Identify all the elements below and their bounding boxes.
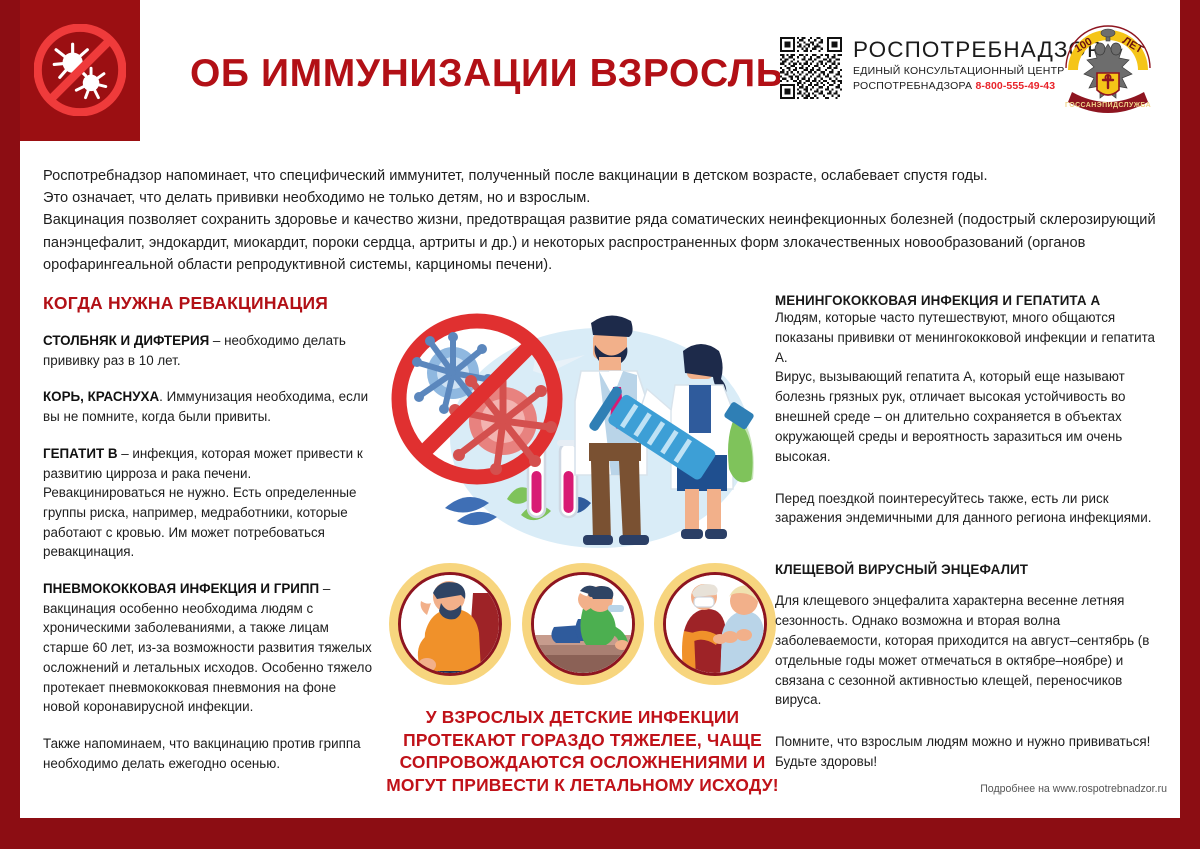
left-item-text: – инфекция, которая может привести к раз…: [43, 446, 363, 560]
brand-lockup: РОСПОТРЕБНАДЗОР ЕДИНЫЙ КОНСУЛЬТАЦИОННЫЙ …: [780, 37, 1103, 99]
left-item-measles-rubella: КОРЬ, КРАСНУХА. Иммунизация необходима, …: [43, 387, 373, 426]
left-item-text: – вакцинация особенно необходима людям с…: [43, 581, 372, 714]
circle-photo-inner: [398, 572, 502, 676]
circle-photo-inner: [663, 572, 767, 676]
spacer: [775, 577, 1167, 591]
page-title: ОБ ИММУНИЗАЦИИ ВЗРОСЛЫХ: [190, 52, 750, 96]
right-section1-para2: Вирус, вызывающий гепатита А, который ещ…: [775, 367, 1167, 466]
spacer: [775, 467, 1167, 489]
header-red-block: [20, 0, 140, 141]
right-section1-heading: МЕНИНГОКОККОВАЯ ИНФЕКЦИЯ И ГЕПАТИТА А: [775, 293, 1167, 308]
circle-photo-cough-man: [389, 563, 511, 685]
hotline-phone[interactable]: 8-800-555-49-43: [975, 80, 1055, 92]
left-column-closing: Также напоминаем, что вакцинацию против …: [43, 734, 373, 773]
spacer: [775, 710, 1167, 732]
body-columns: КОГДА НУЖНА РЕВАКЦИНАЦИЯ СТОЛБНЯК И ДИФТ…: [20, 293, 1180, 813]
right-section2-para2: Помните, что взрослым людям можно и нужн…: [775, 732, 1167, 772]
poster-header: ОБ ИММУНИЗАЦИИ ВЗРОСЛЫХ: [20, 0, 1180, 141]
cta-line-2: ПРОТЕКАЮТ ГОРАЗДО ТЯЖЕЛЕЕ, ЧАЩЕ: [385, 729, 780, 752]
intro-line-1: Роспотребнадзор напоминает, что специфич…: [43, 165, 1165, 187]
center-column: У ВЗРОСЛЫХ ДЕТСКИЕ ИНФЕКЦИИ ПРОТЕКАЮТ ГО…: [385, 293, 780, 805]
intro-line-2: Это означает, что делать прививки необхо…: [43, 187, 1165, 209]
left-item-pneumococcus-flu: ПНЕВМОКОККОВАЯ ИНФЕКЦИЯ И ГРИПП – вакцин…: [43, 579, 373, 717]
left-column-heading: КОГДА НУЖНА РЕВАКЦИНАЦИЯ: [43, 293, 373, 314]
svg-text:ГОССАНЭПИДСЛУЖБА: ГОССАНЭПИДСЛУЖБА: [1065, 102, 1151, 109]
circle-photo-fever-man: [522, 563, 644, 685]
qr-code-icon[interactable]: [780, 37, 842, 99]
circle-photo-inner: [531, 572, 635, 676]
intro-paragraph: Роспотребнадзор напоминает, что специфич…: [43, 165, 1165, 276]
intro-line-3: Вакцинация позволяет сохранить здоровье …: [43, 209, 1165, 276]
left-column: КОГДА НУЖНА РЕВАКЦИНАЦИЯ СТОЛБНЯК И ДИФТ…: [43, 293, 373, 773]
left-item-term: ПНЕВМОКОККОВАЯ ИНФЕКЦИЯ И ГРИПП: [43, 581, 319, 596]
fever-man-illustration: [534, 575, 635, 676]
circle-photo-elderly-couple: [654, 563, 776, 685]
cta-line-1: У ВЗРОСЛЫХ ДЕТСКИЕ ИНФЕКЦИИ: [385, 706, 780, 729]
right-section2-para1: Для клещевого энцефалита характерна весе…: [775, 591, 1167, 710]
left-item-term: КОРЬ, КРАСНУХА: [43, 389, 159, 404]
call-to-action-text: У ВЗРОСЛЫХ ДЕТСКИЕ ИНФЕКЦИИ ПРОТЕКАЮТ ГО…: [385, 706, 780, 797]
right-section1-para3: Перед поездкой поинтересуйтесь также, ес…: [775, 489, 1167, 529]
right-section1-para1: Людям, которые часто путешествуют, много…: [775, 308, 1167, 367]
spacer: [775, 528, 1167, 562]
left-item-term: ГЕПАТИТ В: [43, 446, 118, 461]
no-virus-icon: [34, 24, 126, 116]
doctors-vaccination-illustration: [385, 293, 780, 548]
footer-website-note[interactable]: Подробнее на www.rospotrebnadzor.ru: [775, 783, 1167, 795]
left-item-hepatitis-b: ГЕПАТИТ В – инфекция, которая может прив…: [43, 444, 373, 562]
brand-subtitle-org: РОСПОТРЕБНАДЗОРА: [853, 80, 972, 92]
left-item-term: СТОЛБНЯК И ДИФТЕРИЯ: [43, 333, 209, 348]
circle-photos-row: [385, 558, 780, 690]
cough-man-illustration: [401, 575, 502, 676]
elderly-couple-illustration: [666, 575, 767, 676]
rospotrebnadzor-emblem-icon: 100 ЛЕТ ГОССАНЭПИДСЛУЖБА: [1056, 18, 1160, 130]
poster-sheet: ОБ ИММУНИЗАЦИИ ВЗРОСЛЫХ: [20, 0, 1180, 818]
right-section2-heading: КЛЕЩЕВОЙ ВИРУСНЫЙ ЭНЦЕФАЛИТ: [775, 562, 1167, 577]
cta-line-4: МОГУТ ПРИВЕСТИ К ЛЕТАЛЬНОМУ ИСХОДУ!: [385, 774, 780, 797]
right-column: МЕНИНГОКОККОВАЯ ИНФЕКЦИЯ И ГЕПАТИТА А Лю…: [775, 293, 1167, 772]
poster-root: ОБ ИММУНИЗАЦИИ ВЗРОСЛЫХ: [0, 0, 1200, 849]
cta-line-3: СОПРОВОЖДАЮТСЯ ОСЛОЖНЕНИЯМИ И: [385, 751, 780, 774]
left-item-tetanus-diphtheria: СТОЛБНЯК И ДИФТЕРИЯ – необходимо делать …: [43, 331, 373, 370]
